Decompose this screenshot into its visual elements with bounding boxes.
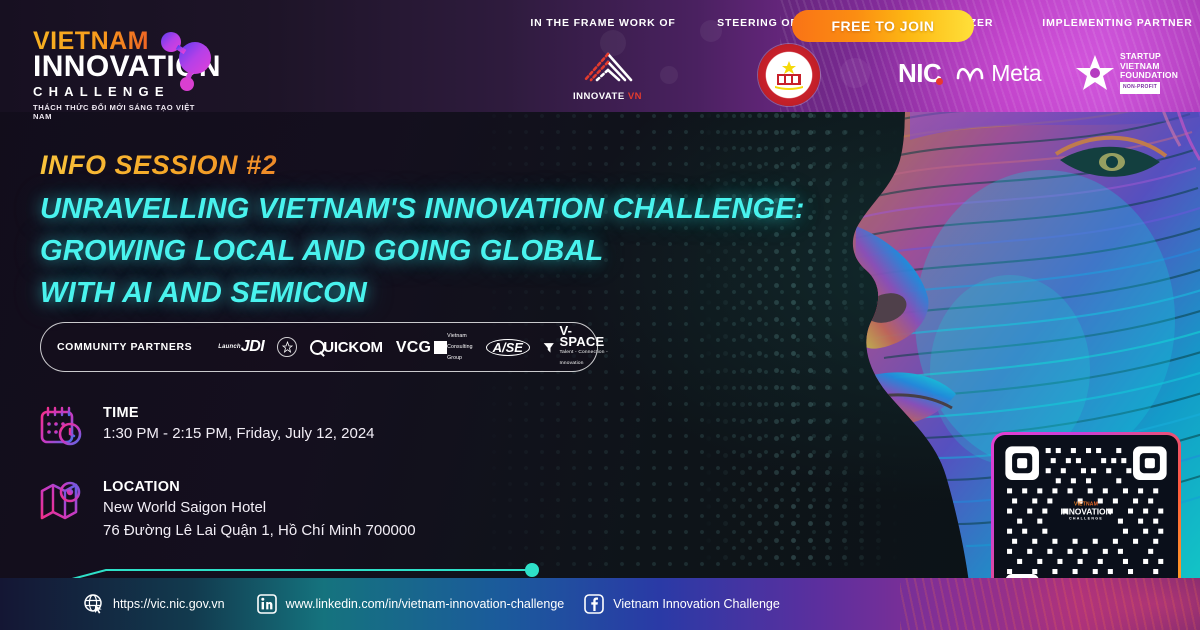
globe-icon [84,594,104,614]
meta-infinity-icon [955,65,985,83]
seal-tree-icon [281,341,294,354]
partner-logo-ase: A/SE [486,339,530,356]
partner-logo-v-space: V-SPACE Talent - Connection - Innovation [543,325,610,369]
vspace-arrow-icon [543,339,555,356]
info-session-eyebrow: INFO SESSION #2 [40,150,277,181]
university-seal-icon [277,337,297,357]
innovate-vn-wordmark: INNOVATE VN [565,91,650,102]
event-poster: IN THE FRAME WORK OF STEERING ORGANIZATI… [0,0,1200,630]
title-line-1: UNRAVELLING VIETNAM'S INNOVATION CHALLEN… [40,188,830,230]
qr-center-logo: VIETNAM INNOVATION CHALLENGE [1049,502,1123,523]
footer-website[interactable]: https://vic.nic.gov.vn [84,594,225,614]
linkedin-icon [257,594,277,614]
svf-star-icon [1075,53,1115,93]
facebook-page[interactable]: Vietnam Innovation Challenge [613,597,780,611]
meta-logo: Meta [955,60,1041,87]
steering-organization-seal [758,44,820,106]
innovate-vn-logo: INNOVATE VN [565,50,650,102]
partner-logo-list: Launch JDI UICKOM VCG Vietnam Consultin [218,325,610,369]
innovate-vn-mark [573,50,643,84]
mpi-emblem-icon [771,60,807,90]
partner-logo-quickom: UICKOM [310,339,383,356]
vic-molecule-icon [157,30,217,98]
location-heading: LOCATION [103,478,416,496]
free-to-join-button[interactable]: FREE TO JOIN [792,10,974,42]
calendar-clock-icon [38,404,84,450]
footer-bar: https://vic.nic.gov.vn www.linkedin.com/… [0,578,1200,630]
svf-wordmark: STARTUP VIETNAM FOUNDATION NON-PROFIT [1120,52,1178,94]
footer-linkedin[interactable]: www.linkedin.com/in/vietnam-innovation-c… [257,594,565,614]
time-heading: TIME [103,404,375,422]
implementing-partner-logo: STARTUP VIETNAM FOUNDATION NON-PROFIT [1075,52,1178,94]
nic-dot-icon [936,78,943,85]
partner-logo-university-seal [277,337,297,357]
linkedin-url[interactable]: www.linkedin.com/in/vietnam-innovation-c… [286,597,565,611]
label-implementing-partner: IMPLEMENTING PARTNER [1030,17,1200,29]
community-partners-bar: COMMUNITY PARTNERS Launch JDI UICKOM VCG [40,322,598,372]
facebook-icon [584,594,604,614]
logo-tagline: THÁCH THỨC ĐỔI MỚI SÁNG TẠO VIỆT NAM [33,103,211,121]
location-venue: New World Saigon Hotel [103,496,416,519]
partner-logo-launch-jdi: Launch JDI [218,343,264,351]
location-address: 76 Đường Lê Lai Quận 1, Hồ Chí Minh 7000… [103,519,416,542]
quickom-q-icon [310,340,325,355]
qr-code[interactable]: VIETNAM INNOVATION CHALLENGE [994,435,1178,589]
location-text-block: LOCATION New World Saigon Hotel 76 Đường… [103,478,416,542]
footer-facebook[interactable]: Vietnam Innovation Challenge [584,594,780,614]
time-detail: TIME 1:30 PM - 2:15 PM, Friday, July 12,… [38,404,375,450]
nic-logo: NIC [898,58,941,89]
partner-logo-vcg: VCG Vietnam Consulting Group [396,331,473,364]
location-detail: LOCATION New World Saigon Hotel 76 Đường… [38,478,416,542]
vic-logo: VIETNAM INNOVATION CHALLENGE THÁCH THỨC … [33,28,211,121]
map-pin-icon [38,478,84,524]
label-in-the-frame-work-of: IN THE FRAME WORK OF [528,17,678,29]
time-text-block: TIME 1:30 PM - 2:15 PM, Friday, July 12,… [103,404,375,445]
time-value: 1:30 PM - 2:15 PM, Friday, July 12, 2024 [103,422,375,445]
title-line-3: WITH AI AND SEMICON [40,272,830,314]
qr-code-frame[interactable]: VIETNAM INNOVATION CHALLENGE [991,432,1181,592]
vcg-mark-icon [434,341,447,354]
title-line-2: GROWING LOCAL AND GOING GLOBAL [40,230,830,272]
website-url[interactable]: https://vic.nic.gov.vn [113,597,225,611]
organizer-logos: NIC Meta [898,58,1041,89]
community-partners-label: COMMUNITY PARTNERS [57,341,192,353]
event-title: UNRAVELLING VIETNAM'S INNOVATION CHALLEN… [40,188,830,314]
